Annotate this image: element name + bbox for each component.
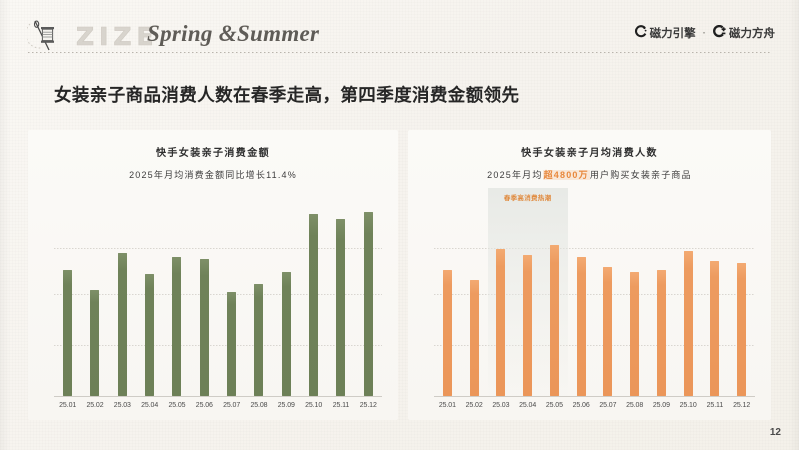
bar-25.10[interactable]	[684, 251, 693, 396]
chart-title-right: 快手女装亲子月均消费人数	[408, 144, 771, 159]
x-tick-25.08: 25.08	[245, 402, 272, 409]
bar-25.06[interactable]	[200, 259, 209, 396]
x-tick-25.06: 25.06	[191, 402, 218, 409]
partner-logo-magnetic-engine: 磁力引擎	[634, 25, 696, 41]
bar-slot	[163, 192, 190, 396]
slide-left-shadow	[0, 0, 10, 450]
bar-slot	[541, 192, 568, 396]
magnetic-engine-icon	[634, 25, 647, 41]
bar-25.06[interactable]	[577, 257, 586, 396]
chart-plot-right: 春季高消费热潮	[434, 192, 755, 397]
bar-slot	[702, 192, 729, 396]
bar-25.09[interactable]	[282, 272, 291, 396]
chart-subtitle-right-suffix: 用户购买女装亲子商品	[590, 170, 692, 180]
bar-25.11[interactable]	[710, 261, 719, 396]
bar-slot	[136, 192, 163, 396]
x-tick-25.02: 25.02	[81, 402, 108, 409]
x-tick-25.03: 25.03	[109, 402, 136, 409]
bar-group-left	[54, 192, 382, 396]
x-tick-25.08: 25.08	[621, 402, 648, 409]
chart-subtitle-right: 2025年月均超4800万用户购买女装亲子商品	[408, 168, 771, 181]
bar-slot	[568, 192, 595, 396]
bar-25.07[interactable]	[227, 292, 236, 396]
chart-title-left: 快手女装亲子消费金额	[28, 144, 398, 159]
bar-slot	[595, 192, 622, 396]
bar-25.03[interactable]	[496, 249, 505, 396]
magnetic-ark-icon	[713, 25, 726, 41]
chart-subtitle-right-highlight: 超4800万	[543, 170, 590, 180]
x-tick-25.04: 25.04	[136, 402, 163, 409]
chart-card-right: 快手女装亲子月均消费人数 2025年月均超4800万用户购买女装亲子商品 春季高…	[408, 130, 771, 420]
bar-25.05[interactable]	[550, 245, 559, 396]
page-number: 12	[770, 427, 781, 438]
partner-label-magnetic-engine: 磁力引擎	[650, 25, 696, 41]
bar-25.11[interactable]	[336, 219, 345, 396]
x-axis-right: 25.0125.0225.0325.0425.0525.0625.0725.08…	[434, 402, 755, 409]
bar-25.12[interactable]	[737, 263, 746, 396]
x-tick-25.07: 25.07	[595, 402, 622, 409]
bar-25.03[interactable]	[118, 253, 127, 396]
page-title: 女装亲子商品消费人数在春季走高，第四季度消费金额领先	[54, 82, 519, 107]
chart-card-left: 快手女装亲子消费金额 2025年月均消费金额同比增长11.4% 25.0125.…	[28, 130, 398, 420]
bar-25.12[interactable]	[364, 212, 373, 396]
bar-25.08[interactable]	[630, 272, 639, 396]
bar-slot	[300, 192, 327, 396]
x-tick-25.01: 25.01	[54, 402, 81, 409]
x-tick-25.01: 25.01	[434, 402, 461, 409]
bar-25.10[interactable]	[309, 214, 318, 396]
bar-25.02[interactable]	[470, 280, 479, 396]
x-tick-25.09: 25.09	[273, 402, 300, 409]
bar-slot	[218, 192, 245, 396]
x-tick-25.10: 25.10	[300, 402, 327, 409]
x-tick-25.04: 25.04	[514, 402, 541, 409]
slide-right-shadow	[789, 0, 799, 450]
x-tick-25.05: 25.05	[163, 402, 190, 409]
bar-25.09[interactable]	[657, 270, 666, 396]
partner-logos: 磁力引擎 · 磁力方舟	[634, 25, 775, 41]
bar-slot	[514, 192, 541, 396]
bar-25.05[interactable]	[172, 257, 181, 396]
bar-25.04[interactable]	[523, 255, 532, 396]
bar-slot	[273, 192, 300, 396]
x-axis-left: 25.0125.0225.0325.0425.0525.0625.0725.08…	[54, 402, 382, 409]
bar-slot	[648, 192, 675, 396]
bar-25.04[interactable]	[145, 274, 154, 396]
bar-slot	[327, 192, 354, 396]
bar-slot	[675, 192, 702, 396]
bar-slot	[434, 192, 461, 396]
axis-baseline-left	[54, 396, 382, 397]
x-tick-25.07: 25.07	[218, 402, 245, 409]
x-tick-25.02: 25.02	[461, 402, 488, 409]
x-tick-25.12: 25.12	[728, 402, 755, 409]
bar-slot	[109, 192, 136, 396]
chart-subtitle-left: 2025年月均消费金额同比增长11.4%	[28, 168, 398, 181]
x-tick-25.12: 25.12	[355, 402, 382, 409]
x-tick-25.05: 25.05	[541, 402, 568, 409]
bar-25.02[interactable]	[90, 290, 99, 396]
bar-slot	[488, 192, 515, 396]
slide-header: ZIZE Spring &Summer 磁力引擎 ·	[0, 0, 799, 60]
bar-slot	[355, 192, 382, 396]
x-tick-25.06: 25.06	[568, 402, 595, 409]
bar-group-right	[434, 192, 755, 396]
needle-and-thread-spool-icon	[27, 18, 69, 52]
x-tick-25.09: 25.09	[648, 402, 675, 409]
x-tick-25.11: 25.11	[327, 402, 354, 409]
x-tick-25.11: 25.11	[702, 402, 729, 409]
bar-25.01[interactable]	[443, 270, 452, 396]
chart-subtitle-right-prefix: 2025年月均	[487, 170, 542, 180]
bar-25.08[interactable]	[254, 284, 263, 396]
partner-label-magnetic-ark: 磁力方舟	[729, 25, 775, 41]
bar-slot	[81, 192, 108, 396]
x-tick-25.03: 25.03	[488, 402, 515, 409]
bar-slot	[191, 192, 218, 396]
slide-canvas: ZIZE Spring &Summer 磁力引擎 ·	[0, 0, 799, 450]
header-divider	[28, 52, 771, 53]
chart-plot-left	[54, 192, 382, 397]
brand-season-label: Spring &Summer	[147, 21, 319, 47]
x-tick-25.10: 25.10	[675, 402, 702, 409]
bar-slot	[621, 192, 648, 396]
partner-logo-magnetic-ark: 磁力方舟	[713, 25, 775, 41]
bar-slot	[54, 192, 81, 396]
axis-baseline-right	[434, 396, 755, 397]
bar-slot	[728, 192, 755, 396]
bar-25.07[interactable]	[603, 267, 612, 396]
bar-slot	[461, 192, 488, 396]
partner-separator: ·	[703, 28, 706, 39]
chart-subtitle-left-text: 2025年月均消费金额同比增长11.4%	[129, 170, 297, 180]
bar-25.01[interactable]	[63, 270, 72, 396]
bar-slot	[245, 192, 272, 396]
